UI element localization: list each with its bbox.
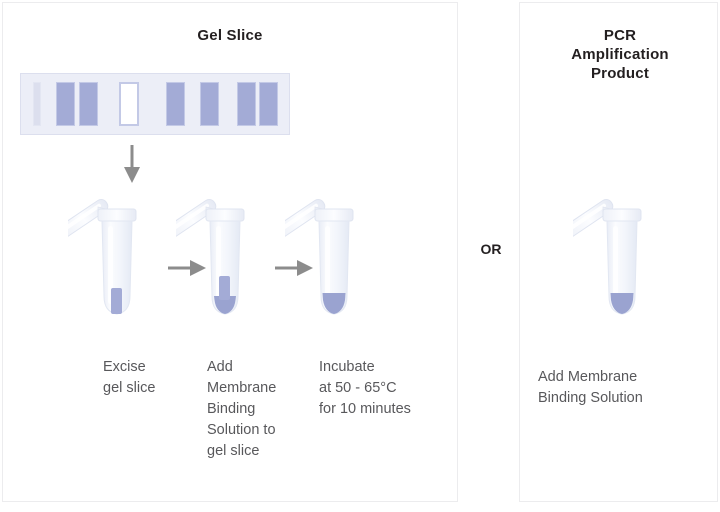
title-line: Product (540, 64, 700, 83)
left-panel-title: Gel Slice (140, 26, 320, 45)
caption-line: gel slice (103, 378, 198, 399)
caption-line: Binding (207, 399, 312, 420)
title-line: Amplification (540, 45, 700, 64)
gel-band (259, 82, 278, 126)
tube-step-2 (176, 178, 260, 338)
caption-step-1: Excise gel slice (103, 357, 198, 399)
caption-line: Incubate (319, 357, 447, 378)
caption-line: Solution to (207, 420, 312, 441)
right-panel-title: PCR Amplification Product (540, 26, 700, 83)
agarose-gel-image (20, 73, 290, 135)
caption-line: Membrane (207, 378, 312, 399)
figure-canvas: Gel Slice (0, 0, 720, 512)
caption-line: Binding Solution (538, 388, 708, 409)
gel-band-faint (33, 82, 41, 126)
caption-step-2: Add Membrane Binding Solution to gel sli… (207, 357, 312, 462)
caption-line: Excise (103, 357, 198, 378)
tube-pcr-product (573, 178, 657, 338)
caption-line: Add (207, 357, 312, 378)
gel-band-excised (119, 82, 139, 126)
or-divider-label: OR (466, 241, 516, 257)
caption-pcr-product: Add Membrane Binding Solution (538, 367, 708, 409)
tube-step-1 (68, 178, 152, 338)
caption-line: gel slice (207, 441, 312, 462)
tube-step-3 (285, 178, 369, 338)
caption-line: for 10 minutes (319, 399, 447, 420)
gel-band (237, 82, 256, 126)
gel-band (79, 82, 98, 126)
gel-band (56, 82, 75, 126)
caption-line: Add Membrane (538, 367, 708, 388)
title-line: PCR (540, 26, 700, 45)
gel-band (166, 82, 185, 126)
gel-band (200, 82, 219, 126)
caption-step-3: Incubate at 50 - 65°C for 10 minutes (319, 357, 447, 420)
caption-line: at 50 - 65°C (319, 378, 447, 399)
